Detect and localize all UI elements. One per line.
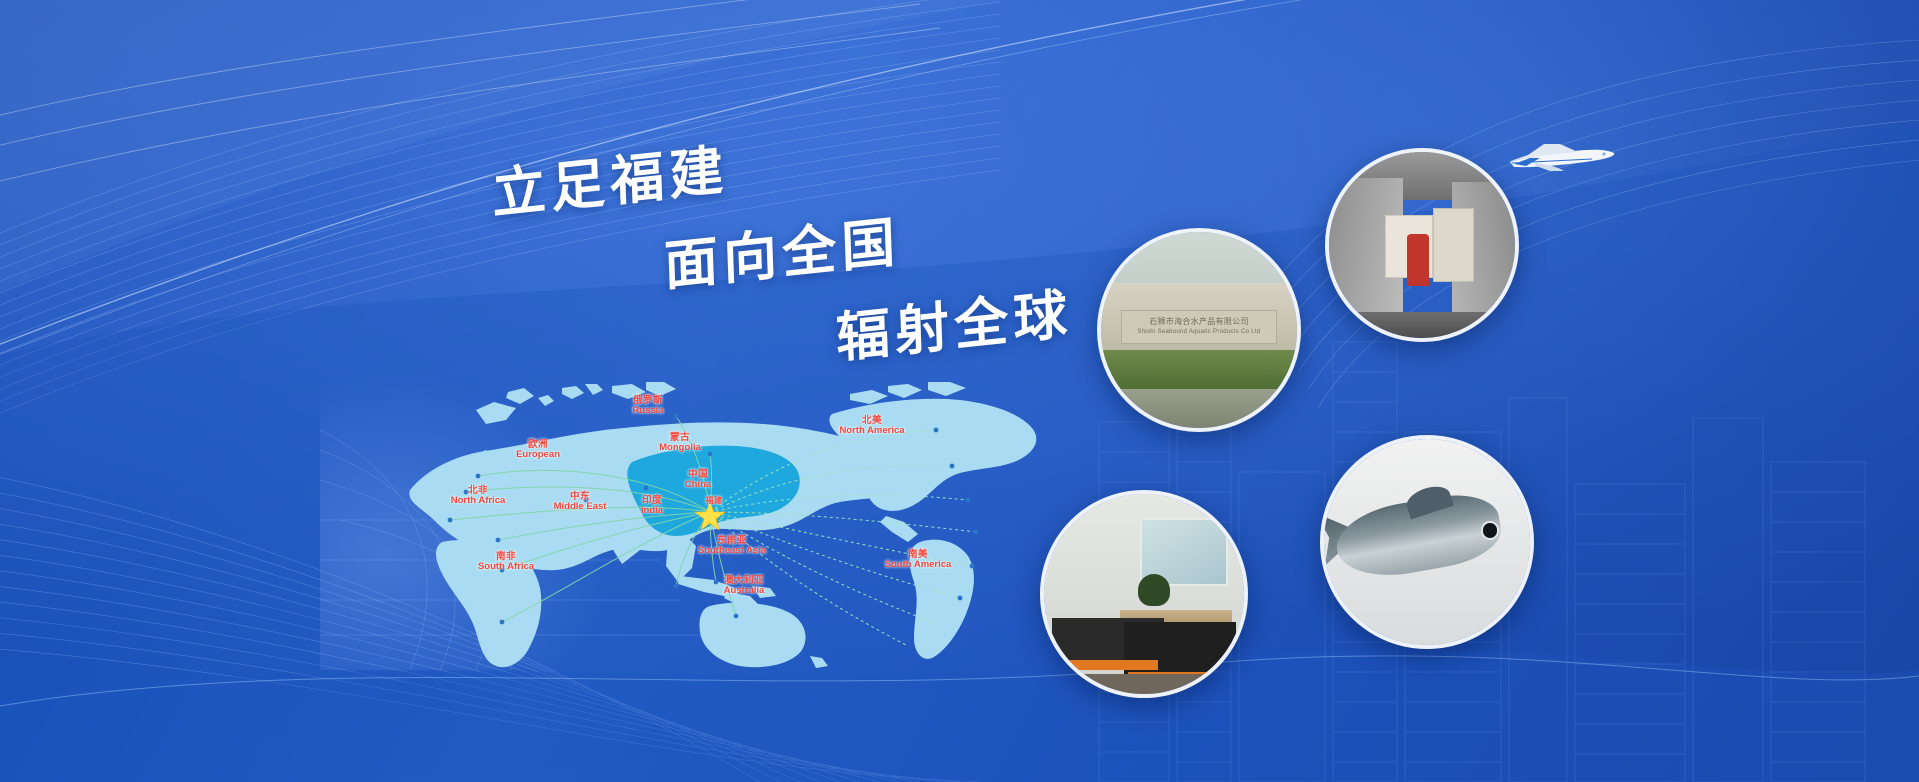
- cold-storage-photo: [1325, 148, 1519, 342]
- photo-floor: [1329, 312, 1515, 338]
- headline-line-3: 辐射全球: [835, 269, 1074, 373]
- photo-hedge: [1101, 350, 1297, 393]
- building-sign-cn: 石狮市海合水产品有限公司: [1101, 316, 1297, 327]
- photo-orange-stripe-a: [1054, 660, 1158, 670]
- fish-eye: [1483, 523, 1497, 537]
- headline-line-2: 面向全国: [663, 197, 902, 301]
- photo-plant: [1138, 574, 1170, 606]
- tuna-fish-photo: [1320, 435, 1534, 649]
- office-photo: [1040, 490, 1248, 698]
- airplane-icon: [1500, 128, 1620, 184]
- photo-inner: 石狮市海合水产品有限公司 Shishi Seabound Aquatic Pro…: [1101, 232, 1297, 428]
- photo-carton-stack-b: [1433, 208, 1474, 282]
- map-svg: [380, 370, 1020, 670]
- banner-root: 立足福建 面向全国 辐射全球: [0, 0, 1919, 782]
- headline-line-1: 立足福建: [491, 125, 730, 229]
- photo-inner: [1324, 439, 1530, 645]
- photo-ground: [1101, 389, 1297, 428]
- building-sign-en: Shishi Seabound Aquatic Products Co Ltd: [1101, 329, 1297, 335]
- photo-inner: [1044, 494, 1244, 694]
- photo-floor: [1044, 674, 1244, 694]
- photo-inner: [1329, 152, 1515, 338]
- headline-group: 立足福建 面向全国 辐射全球: [0, 0, 1100, 340]
- photo-worker: [1407, 234, 1429, 286]
- company-building-photo: 石狮市海合水产品有限公司 Shishi Seabound Aquatic Pro…: [1097, 228, 1301, 432]
- world-trade-route-map: 俄罗斯 Russia 蒙古 Mongolia 中国 China 欧洲 Europ…: [380, 370, 1020, 670]
